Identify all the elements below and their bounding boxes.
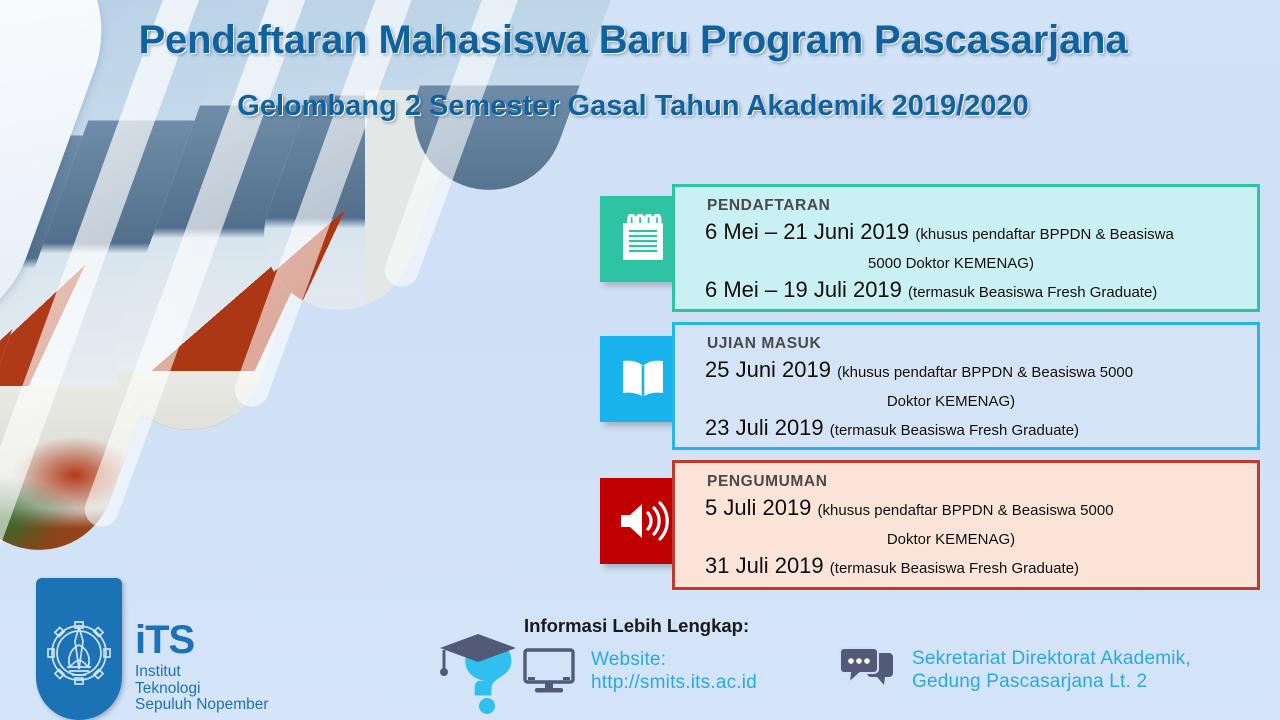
date-text: 6 Mei – 19 Juli 2019 — [705, 277, 902, 302]
card-heading: PENGUMUMAN — [707, 473, 1245, 491]
card-ujian-masuk: UJIAN MASUK 25 Juni 2019 (khusus pendaft… — [672, 322, 1260, 450]
secretariat-line-1: Sekretariat Direktorat Akademik, — [912, 647, 1191, 670]
footer-heading: Informasi Lebih Lengkap: — [524, 615, 749, 637]
card-line-3: 23 Juli 2019 (termasuk Beasiswa Fresh Gr… — [705, 413, 1245, 442]
date-note: (khusus pendaftar BPPDN & Beasiswa 5000 — [818, 502, 1114, 519]
card-line-3: 6 Mei – 19 Juli 2019 (termasuk Beasiswa … — [705, 275, 1245, 304]
card-heading: PENDAFTARAN — [707, 197, 1245, 215]
its-name-line-2: Teknologi — [135, 681, 269, 698]
its-name-line-1: Institut — [135, 664, 269, 681]
page-title: Pendaftaran Mahasiswa Baru Program Pasca… — [0, 18, 1266, 63]
date-note: 5000 Doktor KEMENAG) — [868, 255, 1034, 272]
its-acronym: iTS — [135, 619, 269, 662]
date-text: 25 Juni 2019 — [705, 357, 831, 382]
date-note: Doktor KEMENAG) — [887, 393, 1015, 410]
date-note: (khusus pendaftar BPPDN & Beasiswa 5000 — [837, 364, 1133, 381]
poster-root: Pendaftaran Mahasiswa Baru Program Pasca… — [0, 0, 1280, 720]
card-line-1: 5 Juli 2019 (khusus pendaftar BPPDN & Be… — [705, 493, 1245, 522]
chat-bubbles-icon — [838, 645, 896, 695]
date-note: Doktor KEMENAG) — [887, 531, 1015, 548]
its-name-line-3: Sepuluh Nopember — [135, 697, 269, 714]
website-text[interactable]: Website: http://smits.its.ac.id — [591, 648, 757, 694]
card-line-1: 25 Juni 2019 (khusus pendaftar BPPDN & B… — [705, 355, 1245, 384]
date-text: 23 Juli 2019 — [705, 415, 824, 440]
card-pendaftaran: PENDAFTARAN 6 Mei – 21 Juni 2019 (khusus… — [672, 184, 1260, 312]
date-note: (termasuk Beasiswa Fresh Graduate) — [830, 560, 1079, 577]
secretariat-line-2: Gedung Pascasarjana Lt. 2 — [912, 670, 1191, 693]
its-gear-lotus-emblem — [36, 578, 122, 720]
page-subtitle: Gelombang 2 Semester Gasal Tahun Akademi… — [0, 90, 1266, 123]
website-label: Website: — [591, 648, 757, 671]
footer-website-row[interactable]: Website: http://smits.its.ac.id — [523, 648, 757, 694]
card-heading: UJIAN MASUK — [707, 335, 1245, 353]
date-note: (termasuk Beasiswa Fresh Graduate) — [908, 284, 1157, 301]
date-note: (khusus pendaftar BPPDN & Beasiswa — [915, 226, 1173, 243]
card-line-2: Doktor KEMENAG) — [705, 522, 1245, 551]
card-line-1: 6 Mei – 21 Juni 2019 (khusus pendaftar B… — [705, 217, 1245, 246]
card-line-3: 31 Juli 2019 (termasuk Beasiswa Fresh Gr… — [705, 551, 1245, 580]
graduation-cap-question-icon — [432, 608, 528, 716]
its-logo-text: iTS Institut Teknologi Sepuluh Nopember — [135, 619, 269, 714]
secretariat-text: Sekretariat Direktorat Akademik, Gedung … — [912, 647, 1191, 693]
card-line-2: 5000 Doktor KEMENAG) — [705, 246, 1245, 275]
card-line-2: Doktor KEMENAG) — [705, 384, 1245, 413]
monitor-icon — [523, 648, 575, 694]
date-text: 31 Juli 2019 — [705, 553, 824, 578]
date-note: (termasuk Beasiswa Fresh Graduate) — [830, 422, 1079, 439]
card-pengumuman: PENGUMUMAN 5 Juli 2019 (khusus pendaftar… — [672, 460, 1260, 590]
footer-secretariat-row: Sekretariat Direktorat Akademik, Gedung … — [838, 645, 1191, 695]
website-url[interactable]: http://smits.its.ac.id — [591, 671, 757, 694]
its-logo: iTS Institut Teknologi Sepuluh Nopember — [36, 578, 269, 720]
date-text: 6 Mei – 21 Juni 2019 — [705, 219, 909, 244]
date-text: 5 Juli 2019 — [705, 495, 811, 520]
